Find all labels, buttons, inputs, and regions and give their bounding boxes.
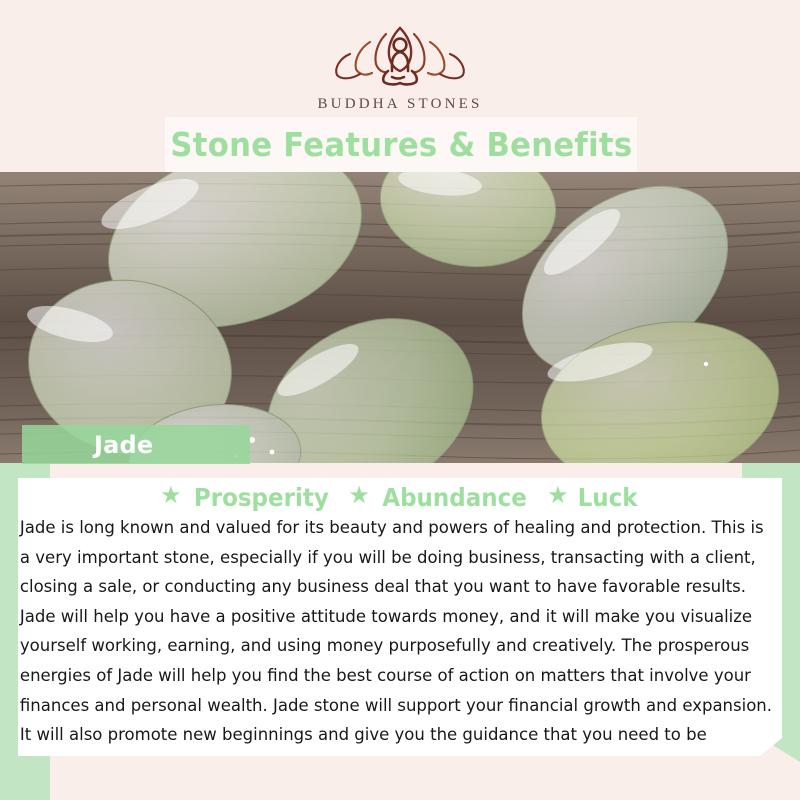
benefit-label: Prosperity bbox=[194, 483, 329, 512]
content-panel: ★ Prosperity ★ Abundance ★ Luck Jade is … bbox=[18, 478, 782, 756]
benefit-item: ★ Prosperity bbox=[160, 483, 334, 512]
section-title-band: Stone Features & Benefits bbox=[165, 117, 637, 172]
benefit-label: Luck bbox=[577, 483, 637, 512]
stone-photo bbox=[0, 172, 800, 463]
star-icon: ★ bbox=[348, 484, 370, 508]
benefit-item: ★ Luck bbox=[547, 483, 640, 512]
stone-description: Jade is long known and valued for its be… bbox=[18, 512, 782, 780]
page-title: Stone Features & Benefits bbox=[170, 125, 632, 164]
brand-logo: BUDDHA STONES bbox=[0, 22, 800, 113]
stone-photo-illustration bbox=[0, 172, 800, 463]
benefit-item: ★ Abundance bbox=[348, 483, 533, 512]
lotus-meditation-figure-icon bbox=[326, 22, 474, 90]
star-icon: ★ bbox=[547, 484, 569, 508]
stone-name-badge: Jade bbox=[22, 425, 250, 464]
star-icon: ★ bbox=[160, 484, 182, 508]
brand-name: BUDDHA STONES bbox=[317, 96, 482, 113]
benefits-row: ★ Prosperity ★ Abundance ★ Luck bbox=[18, 478, 782, 512]
stone-name: Jade bbox=[94, 431, 153, 459]
benefit-label: Abundance bbox=[382, 483, 527, 512]
